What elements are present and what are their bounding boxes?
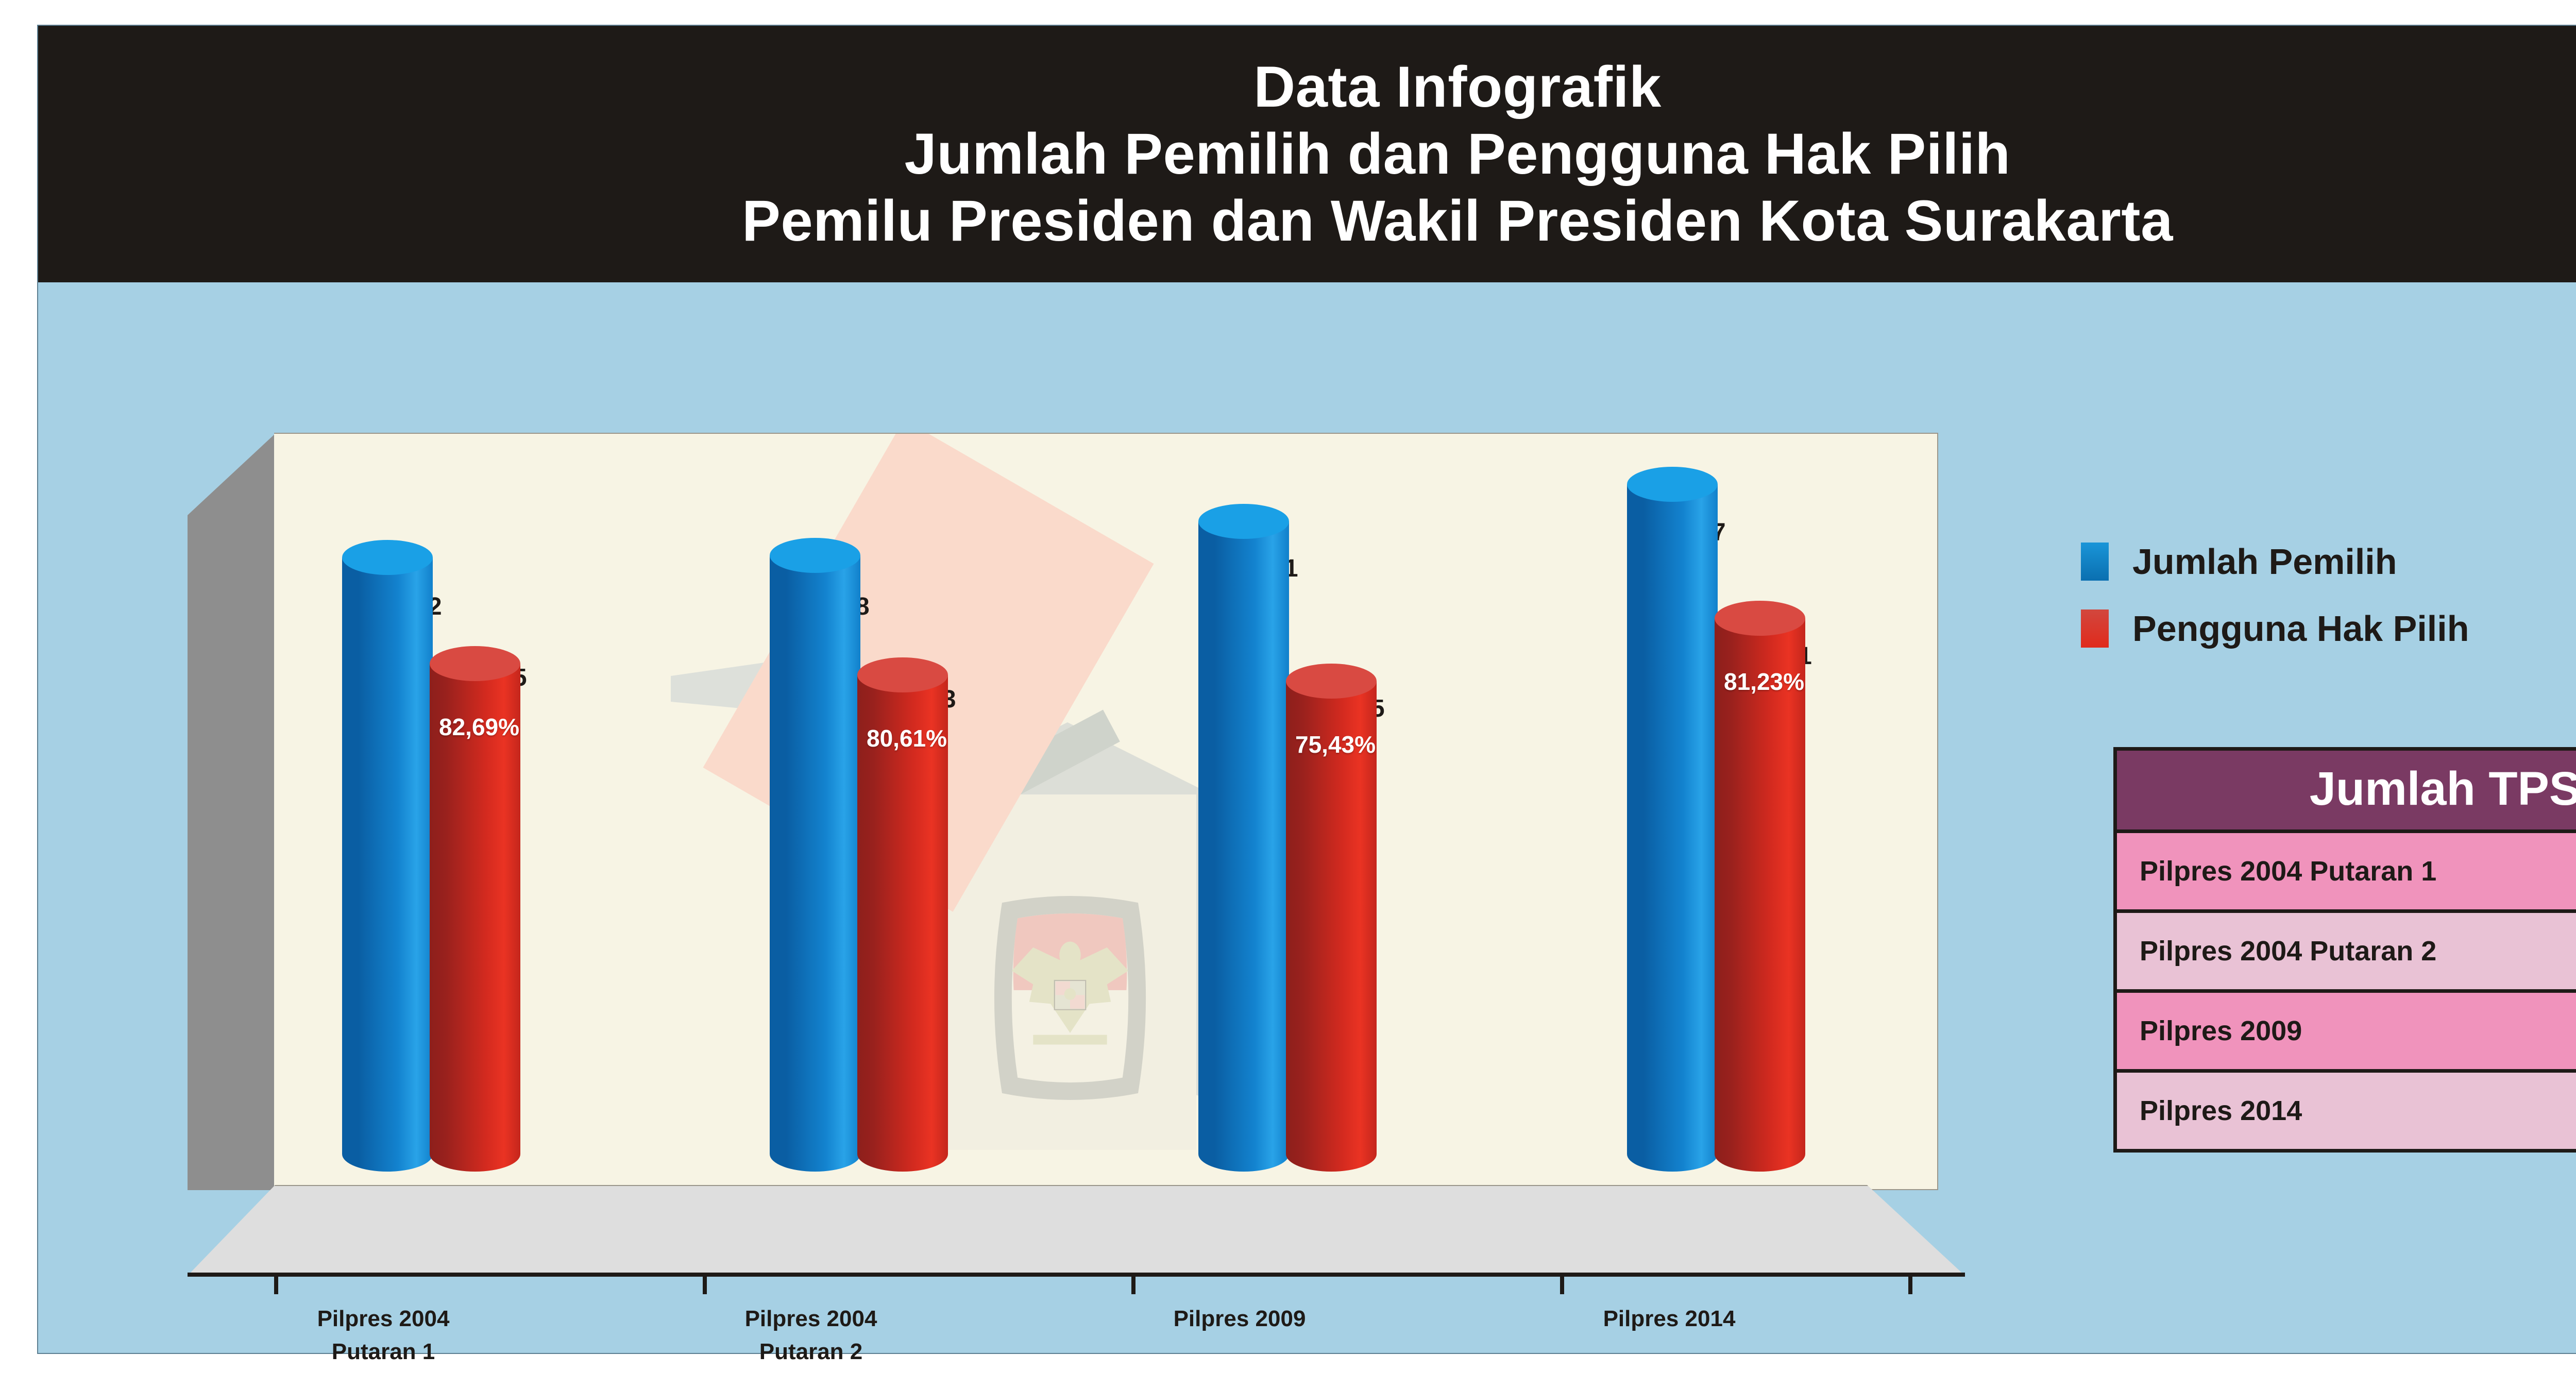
legend-swatch-blue-icon xyxy=(2081,543,2109,581)
category-label-1: Pilpres 2004 Putaran 2 xyxy=(682,1302,940,1368)
tps-row-name: Pilpres 2009 xyxy=(2117,993,2576,1069)
bar-percent-label: 75,43% xyxy=(1295,731,1376,758)
category-label-2: Pilpres 2009 xyxy=(1111,1302,1368,1335)
axis-tick-4 xyxy=(1908,1273,1912,1294)
legend-label: Pengguna Hak Pilih xyxy=(2132,608,2469,649)
axis-tick-0 xyxy=(274,1273,278,1294)
table-row[interactable]: Pilpres 2014 1.272 xyxy=(2117,1073,2576,1149)
tps-row-name: Pilpres 2014 xyxy=(2117,1073,2576,1149)
category-label-line: Pilpres 2004 xyxy=(682,1302,940,1335)
bar-pengguna-hak-pilih-3: 75,43% xyxy=(1286,681,1377,1172)
bar-jumlah-pemilih-1 xyxy=(342,557,433,1172)
bar-jumlah-pemilih-2 xyxy=(770,555,860,1172)
category-label-line: Pilpres 2004 xyxy=(255,1302,512,1335)
chart-axis-line xyxy=(188,1273,1965,1277)
category-label-line: Pilpres 2014 xyxy=(1540,1302,1798,1335)
category-label-3: Pilpres 2014 xyxy=(1540,1302,1798,1335)
bar-pengguna-hak-pilih-4: 81,23% xyxy=(1715,618,1805,1172)
title-line-1: Data Infografik xyxy=(1253,58,1662,116)
legend-item-pengguna-hak-pilih[interactable]: Pengguna Hak Pilih xyxy=(2081,608,2469,649)
axis-tick-3 xyxy=(1560,1273,1564,1294)
poster-header: Data Infografik Jumlah Pemilih dan Pengg… xyxy=(38,26,2576,282)
category-label-0: Pilpres 2004 Putaran 1 xyxy=(255,1302,512,1368)
chart-floor xyxy=(188,1185,1965,1277)
bar-jumlah-pemilih-3 xyxy=(1198,521,1289,1172)
tps-table: Jumlah TPS Pilpres 2004 Putaran 1 1.429 … xyxy=(2113,747,2576,1153)
tps-row-name: Pilpres 2004 Putaran 1 xyxy=(2117,833,2576,909)
tps-row-name: Pilpres 2004 Putaran 2 xyxy=(2117,913,2576,989)
bar-percent-label: 81,23% xyxy=(1724,668,1804,696)
axis-tick-2 xyxy=(1131,1273,1136,1294)
axis-tick-1 xyxy=(703,1273,707,1294)
category-label-line: Pilpres 2009 xyxy=(1111,1302,1368,1335)
bar-pengguna-hak-pilih-2: 80,61% xyxy=(857,675,948,1172)
infographic-poster: Data Infografik Jumlah Pemilih dan Pengg… xyxy=(37,25,2576,1354)
chart-left-wall xyxy=(188,433,276,1190)
bar-pengguna-hak-pilih-1: 82,69% xyxy=(430,664,520,1172)
category-label-line: Putaran 2 xyxy=(682,1335,940,1368)
tps-table-title: Jumlah TPS xyxy=(2117,751,2576,833)
table-row[interactable]: Pilpres 2004 Putaran 2 1.429 xyxy=(2117,913,2576,993)
bar-percent-label: 82,69% xyxy=(439,713,519,741)
table-row[interactable]: Pilpres 2004 Putaran 1 1.429 xyxy=(2117,833,2576,913)
bar-chart: 379.452 313.785 82,69% Pilpres 2004 Puta… xyxy=(188,355,1970,1262)
legend-label: Jumlah Pemilih xyxy=(2132,541,2397,582)
watermark-kpu-logo-icon xyxy=(972,887,1168,1109)
legend-item-jumlah-pemilih[interactable]: Jumlah Pemilih xyxy=(2081,541,2469,582)
category-label-line: Putaran 1 xyxy=(255,1335,512,1368)
bar-percent-label: 80,61% xyxy=(867,724,947,752)
legend-swatch-red-icon xyxy=(2081,609,2109,648)
table-row[interactable]: Pilpres 2009 929 xyxy=(2117,993,2576,1073)
chart-legend: Jumlah Pemilih Pengguna Hak Pilih xyxy=(2081,541,2469,675)
bar-jumlah-pemilih-4 xyxy=(1627,484,1718,1172)
title-line-2: Jumlah Pemilih dan Pengguna Hak Pilih xyxy=(905,125,2011,183)
title-line-3: Pemilu Presiden dan Wakil Presiden Kota … xyxy=(742,192,2173,250)
